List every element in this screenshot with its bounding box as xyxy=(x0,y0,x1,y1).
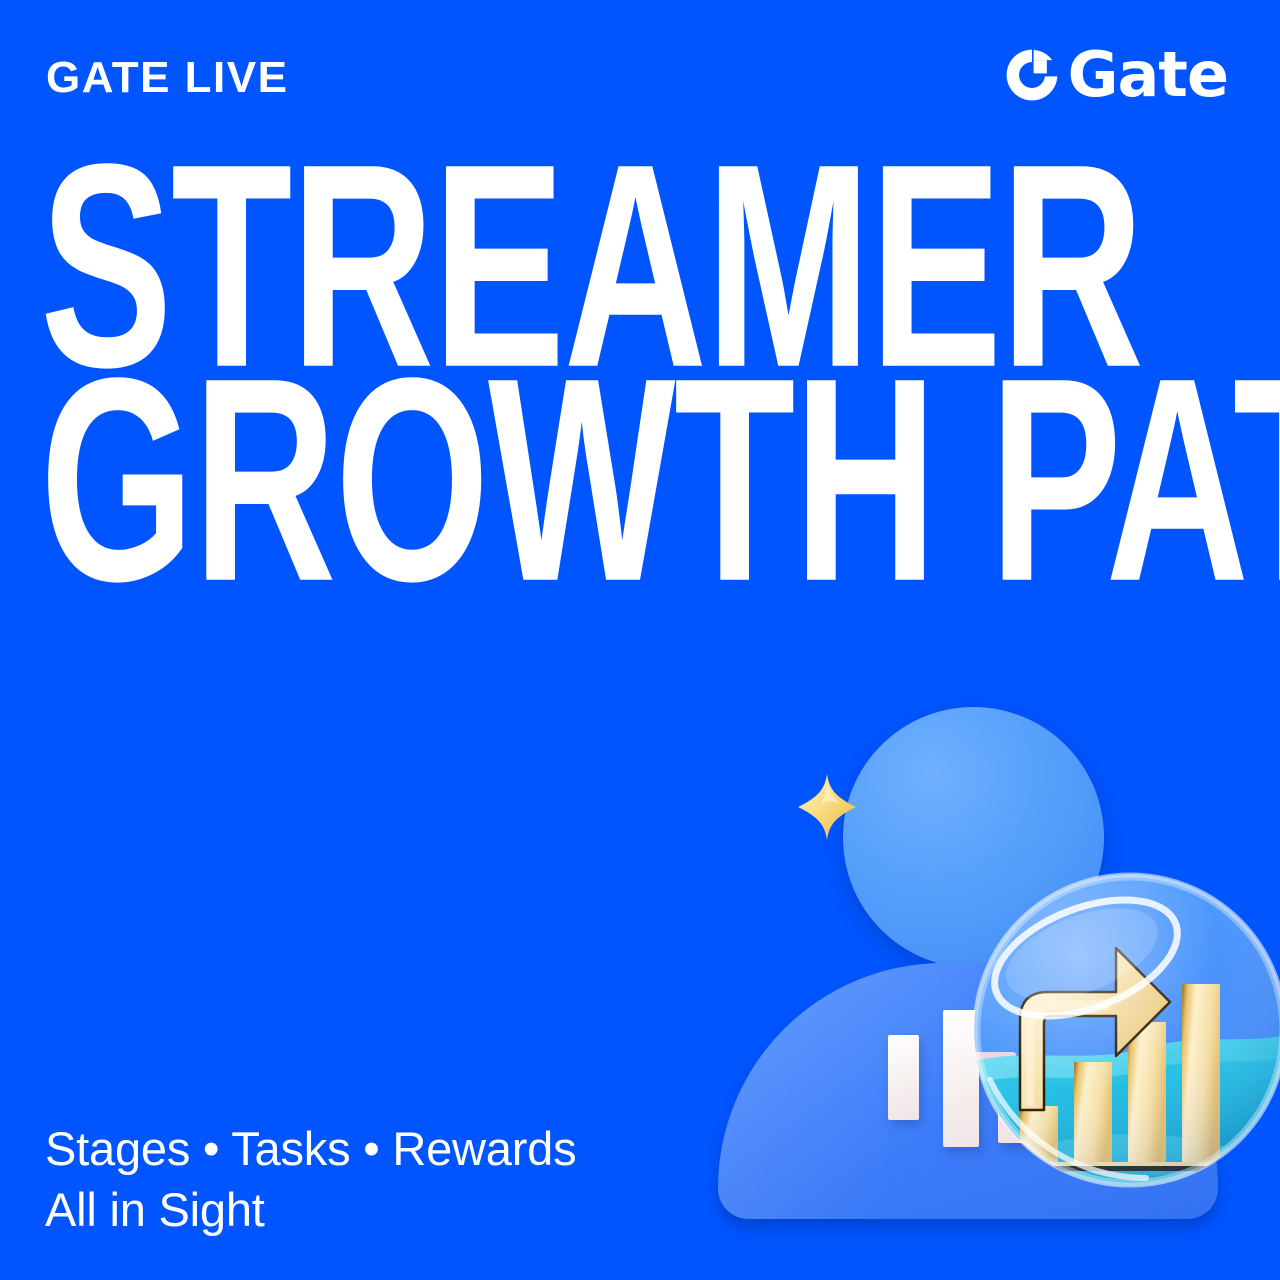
gate-wordmark: Gate xyxy=(1068,44,1228,106)
poster-canvas: GATE LIVE Gate STREAMER GROWTH PATH Stag… xyxy=(0,0,1280,1280)
headline-block: STREAMER GROWTH PATH xyxy=(40,150,1240,564)
gate-live-eyebrow: GATE LIVE xyxy=(46,56,288,100)
glass-sphere xyxy=(970,870,1280,1190)
streamer-growth-illustration xyxy=(700,680,1260,1240)
tagline-block: Stages • Tasks • Rewards All in Sight xyxy=(45,1118,576,1240)
gate-logo[interactable]: Gate xyxy=(1005,44,1228,106)
headline-line-2: GROWTH PATH xyxy=(40,364,994,596)
gate-logo-mark-icon xyxy=(1005,48,1059,102)
white-bar-1 xyxy=(888,1035,919,1120)
gold-sparkle-star-icon xyxy=(795,772,859,842)
tagline-line-1: Stages • Tasks • Rewards xyxy=(45,1118,576,1179)
tagline-line-2: All in Sight xyxy=(45,1179,576,1240)
